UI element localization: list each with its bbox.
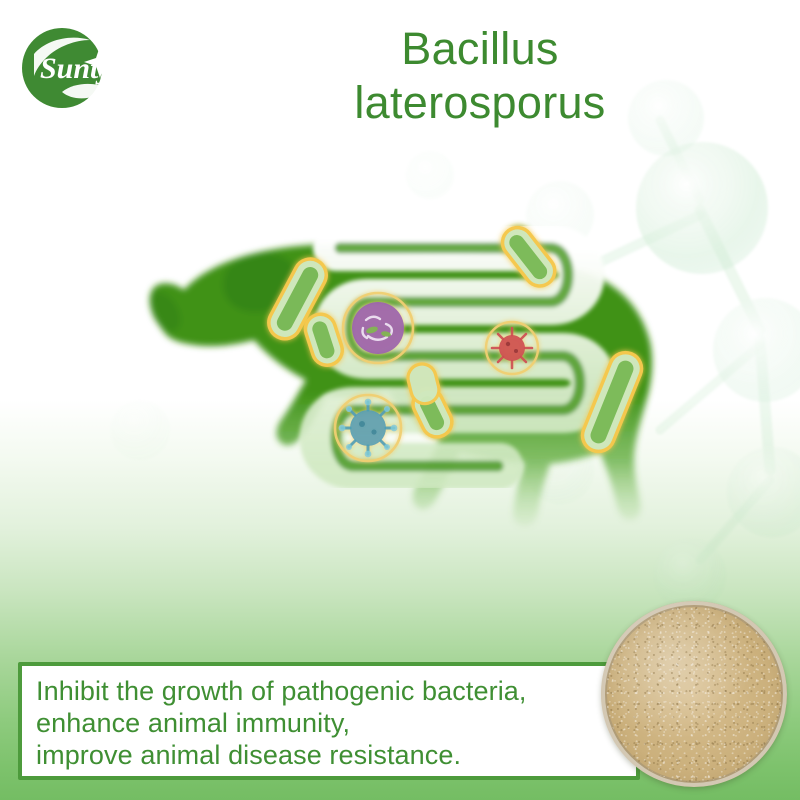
red-virus-marker [486, 322, 538, 374]
logo-wordmark: Suntybio [40, 52, 150, 85]
powder-sample-dish [601, 601, 787, 787]
promo-banner: Suntybio Bacillus laterosporus Inhibit t… [0, 0, 800, 800]
teal-virus-marker [335, 395, 401, 461]
pig-intestine-illustration [100, 190, 740, 570]
page-title: Bacillus laterosporus [170, 22, 790, 130]
purple-bacteria-marker [343, 293, 413, 363]
suntybio-logo[interactable]: Suntybio [12, 24, 164, 116]
benefits-callout: Inhibit the growth of pathogenic bacteri… [18, 662, 640, 780]
benefits-text: Inhibit the growth of pathogenic bacteri… [36, 675, 636, 771]
